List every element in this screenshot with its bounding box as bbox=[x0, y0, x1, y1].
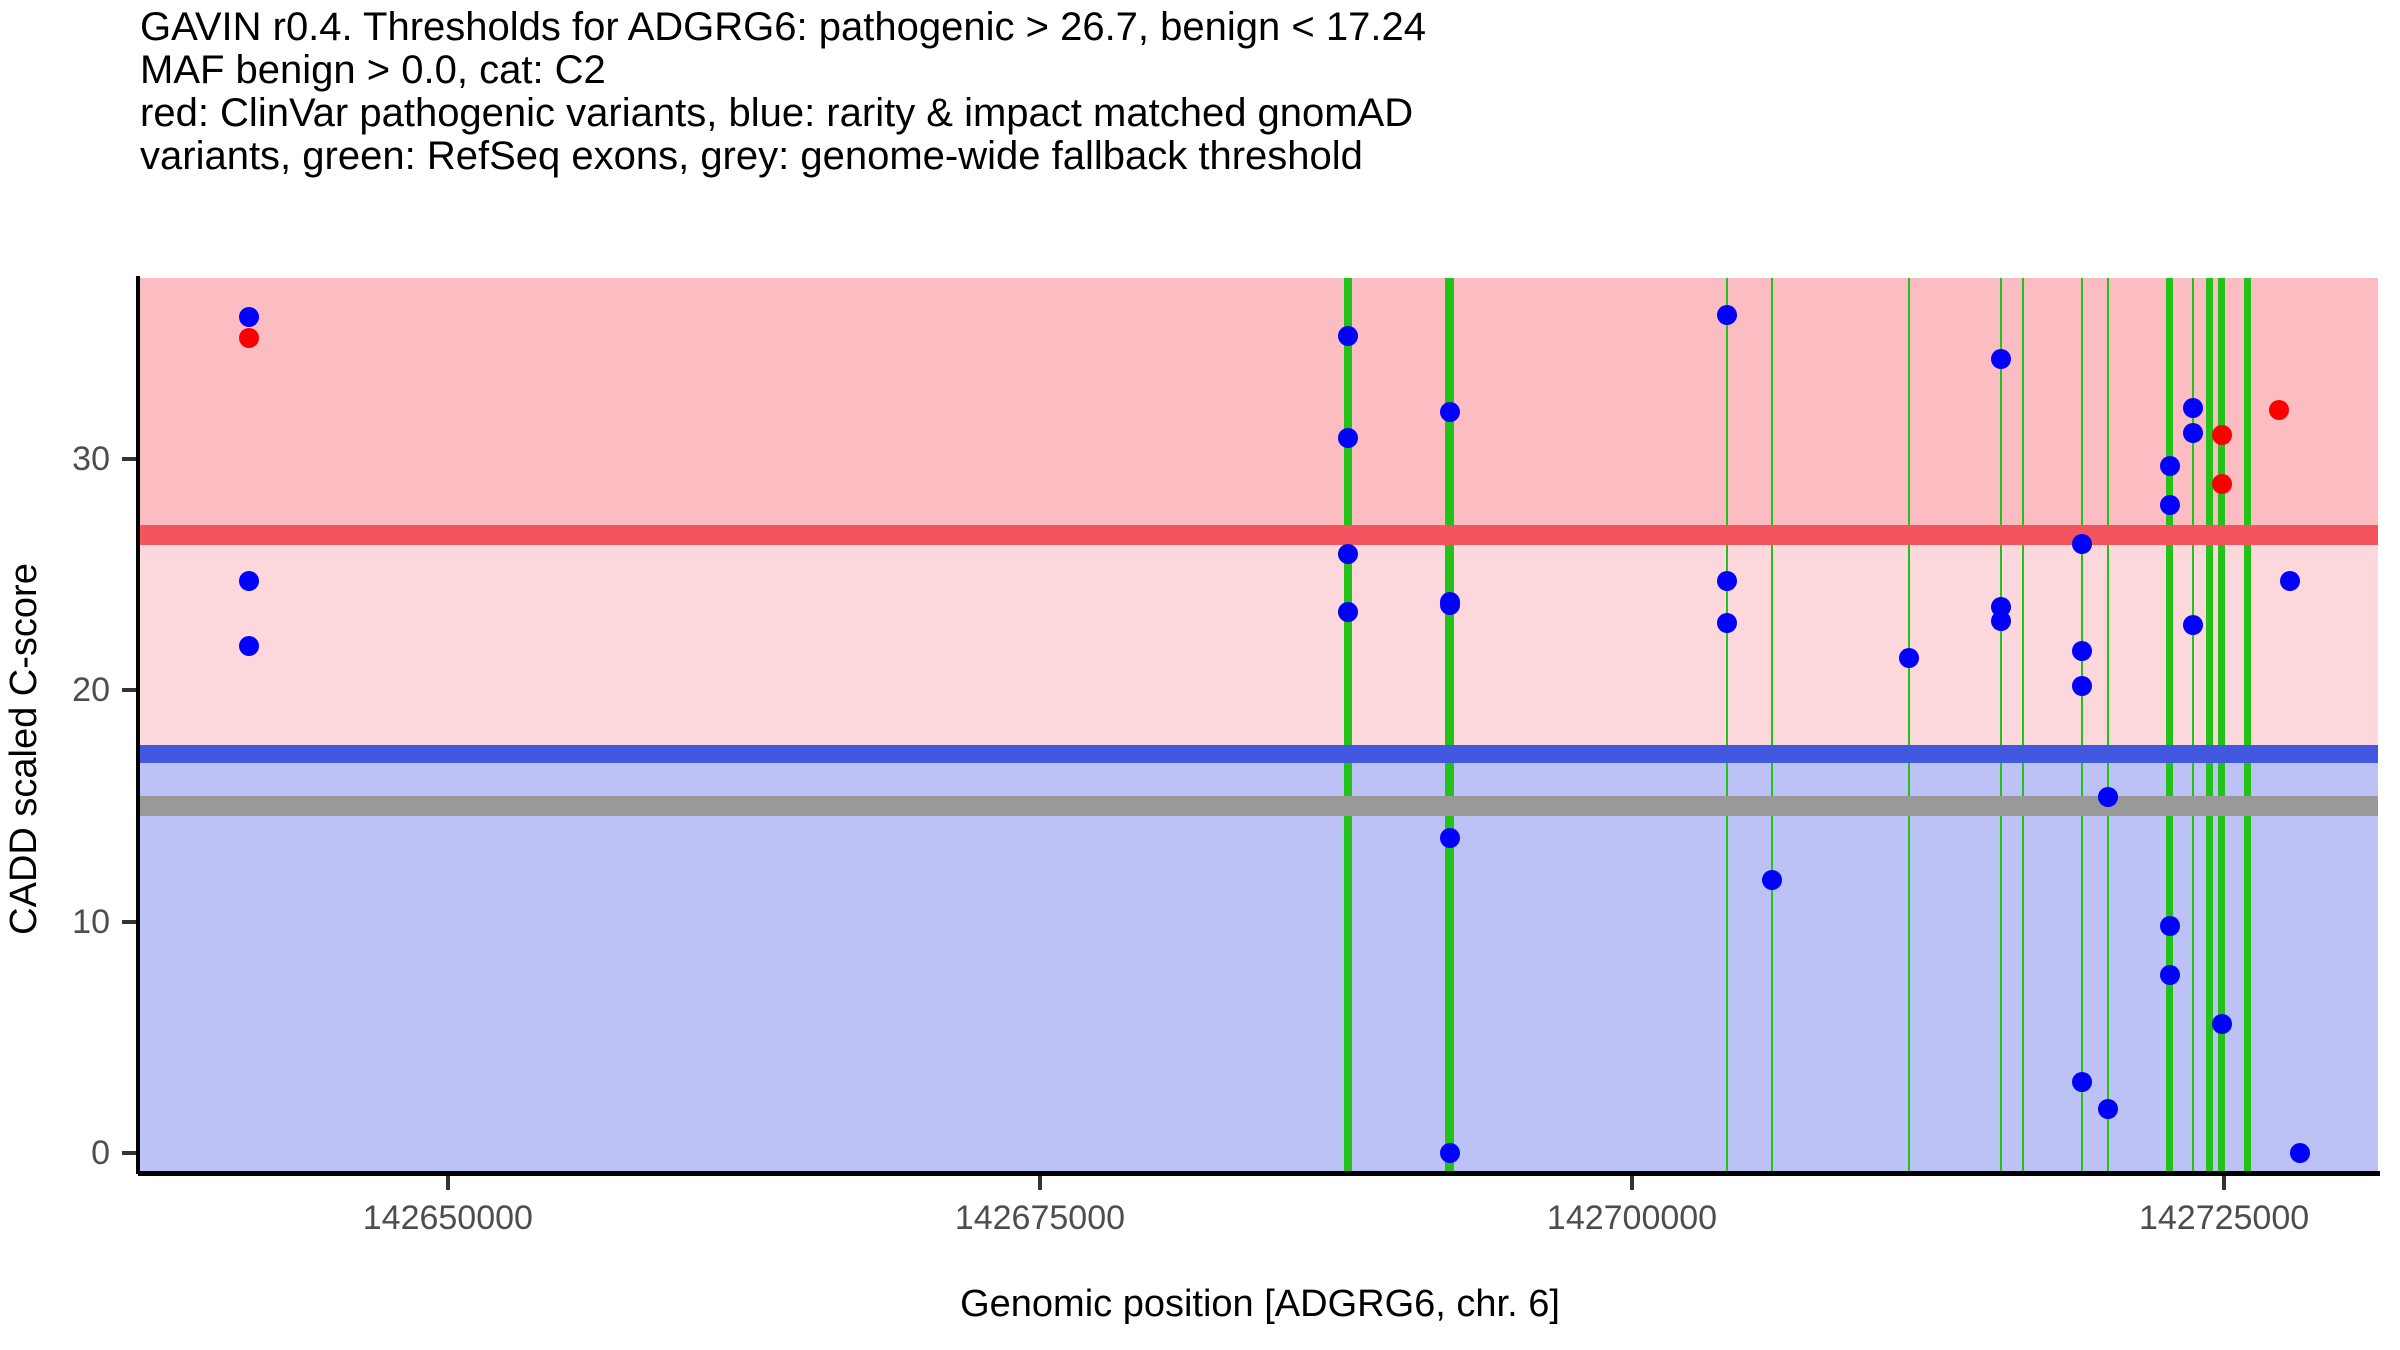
y-tick-mark bbox=[122, 1151, 136, 1155]
gnomad-variant-point bbox=[2072, 676, 2092, 696]
x-tick-label: 142650000 bbox=[288, 1198, 608, 1238]
gnomad-variant-point bbox=[1440, 1143, 1460, 1163]
gnomad-variant-point bbox=[1717, 613, 1737, 633]
gnomad-variant-point bbox=[2183, 398, 2203, 418]
gnomad-variant-point bbox=[1338, 326, 1358, 346]
uncertain-band bbox=[140, 535, 2378, 754]
fallback-threshold-line bbox=[140, 796, 2378, 816]
x-axis-line bbox=[138, 1171, 2380, 1176]
gnomad-variant-point bbox=[2160, 965, 2180, 985]
plot-title-block: GAVIN r0.4. Thresholds for ADGRG6: patho… bbox=[140, 6, 2380, 178]
y-tick-mark bbox=[122, 457, 136, 461]
gnomad-variant-point bbox=[1899, 648, 1919, 668]
gnomad-variant-point bbox=[2160, 456, 2180, 476]
x-tick-mark bbox=[2222, 1176, 2226, 1190]
refseq-exon-line bbox=[2166, 278, 2173, 1172]
x-tick-mark bbox=[446, 1176, 450, 1190]
y-axis-line bbox=[136, 276, 140, 1174]
refseq-exon-line bbox=[2218, 278, 2225, 1172]
refseq-exon-line bbox=[1344, 278, 1352, 1172]
gnomad-variant-point bbox=[1338, 428, 1358, 448]
plot-title-line-2: MAF benign > 0.0, cat: C2 bbox=[140, 49, 2380, 92]
refseq-exon-line bbox=[2206, 278, 2213, 1172]
gnomad-variant-point bbox=[1762, 870, 1782, 890]
plot-root: GAVIN r0.4. Thresholds for ADGRG6: patho… bbox=[0, 0, 2400, 1350]
x-tick-mark bbox=[1038, 1176, 1042, 1190]
plot-title-line-3: red: ClinVar pathogenic variants, blue: … bbox=[140, 92, 2380, 135]
x-tick-label: 142675000 bbox=[880, 1198, 1200, 1238]
gnomad-variant-point bbox=[1717, 305, 1737, 325]
plot-title-line-4: variants, green: RefSeq exons, grey: gen… bbox=[140, 135, 2380, 178]
refseq-exon-line bbox=[1771, 278, 1773, 1172]
y-tick-mark bbox=[122, 920, 136, 924]
gnomad-variant-point bbox=[2160, 916, 2180, 936]
plot-title-line-1: GAVIN r0.4. Thresholds for ADGRG6: patho… bbox=[140, 6, 2380, 49]
refseq-exon-line bbox=[2022, 278, 2024, 1172]
pathogenic-threshold-line bbox=[140, 525, 2378, 545]
gnomad-variant-point bbox=[1338, 544, 1358, 564]
y-axis-title: CADD scaled C-score bbox=[0, 289, 48, 1209]
gnomad-variant-point bbox=[2212, 1014, 2232, 1034]
x-tick-label: 142725000 bbox=[2064, 1198, 2384, 1238]
clinvar-pathogenic-point bbox=[2212, 474, 2232, 494]
gnomad-variant-point bbox=[2160, 495, 2180, 515]
x-tick-label: 142700000 bbox=[1472, 1198, 1792, 1238]
refseq-exon-line bbox=[2000, 278, 2002, 1172]
pathogenic-band bbox=[140, 278, 2378, 535]
refseq-exon-line bbox=[2081, 278, 2083, 1172]
gnomad-variant-point bbox=[1338, 602, 1358, 622]
gnomad-variant-point bbox=[2072, 641, 2092, 661]
gnomad-variant-point bbox=[1440, 595, 1460, 615]
y-tick-mark bbox=[122, 688, 136, 692]
refseq-exon-line bbox=[2107, 278, 2109, 1172]
benign-threshold-line bbox=[140, 745, 2378, 763]
gnomad-variant-point bbox=[1717, 571, 1737, 591]
gnomad-variant-point bbox=[2072, 1072, 2092, 1092]
x-tick-mark bbox=[1630, 1176, 1634, 1190]
y-tick-label: 30 bbox=[0, 442, 110, 476]
y-tick-label: 0 bbox=[0, 1136, 110, 1170]
refseq-exon-line bbox=[1908, 278, 1910, 1172]
benign-band bbox=[140, 754, 2378, 1172]
y-tick-label: 10 bbox=[0, 905, 110, 939]
refseq-exon-line bbox=[2244, 278, 2251, 1172]
y-tick-label: 20 bbox=[0, 673, 110, 707]
refseq-exon-line bbox=[1726, 278, 1728, 1172]
plot-panel bbox=[140, 278, 2378, 1172]
gnomad-variant-point bbox=[2098, 787, 2118, 807]
gnomad-variant-point bbox=[1440, 402, 1460, 422]
x-axis-title: Genomic position [ADGRG6, chr. 6] bbox=[140, 1282, 2380, 1326]
clinvar-pathogenic-point bbox=[2269, 400, 2289, 420]
